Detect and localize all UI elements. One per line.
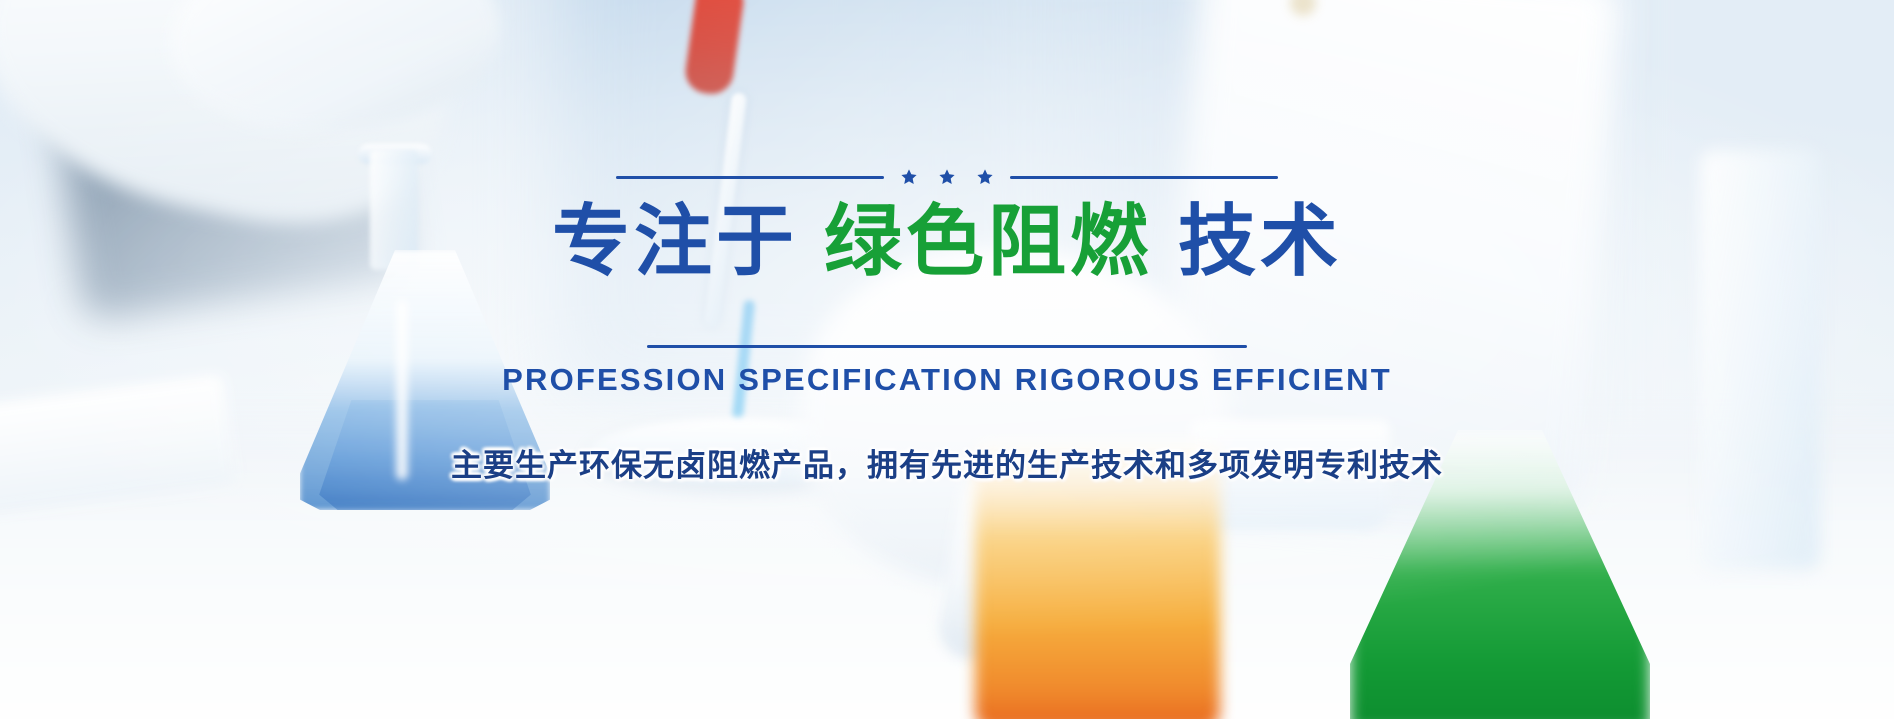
hero-banner: 专注于绿色阻燃技术 PROFESSION SPECIFICATION RIGOR… xyxy=(0,0,1894,719)
divider-line-right xyxy=(1010,176,1278,179)
star-group xyxy=(900,168,994,186)
english-subtitle: PROFESSION SPECIFICATION RIGOROUS EFFICI… xyxy=(502,362,1392,398)
tagline-text: 主要生产环保无卤阻燃产品，拥有先进的生产技术和多项发明专利技术 xyxy=(451,440,1443,485)
page-title: 专注于绿色阻燃技术 xyxy=(552,202,1342,283)
subtitle-divider-line xyxy=(647,345,1247,348)
decorative-divider xyxy=(616,168,1278,186)
star-icon xyxy=(976,168,994,186)
star-icon xyxy=(900,168,918,186)
divider-line-left xyxy=(616,176,884,179)
star-icon xyxy=(938,168,956,186)
banner-content: 专注于绿色阻燃技术 PROFESSION SPECIFICATION RIGOR… xyxy=(0,0,1894,485)
headline-part-3: 技术 xyxy=(1178,197,1342,287)
headline-part-1: 专注于 xyxy=(552,197,798,287)
headline-part-2: 绿色阻燃 xyxy=(824,197,1152,287)
